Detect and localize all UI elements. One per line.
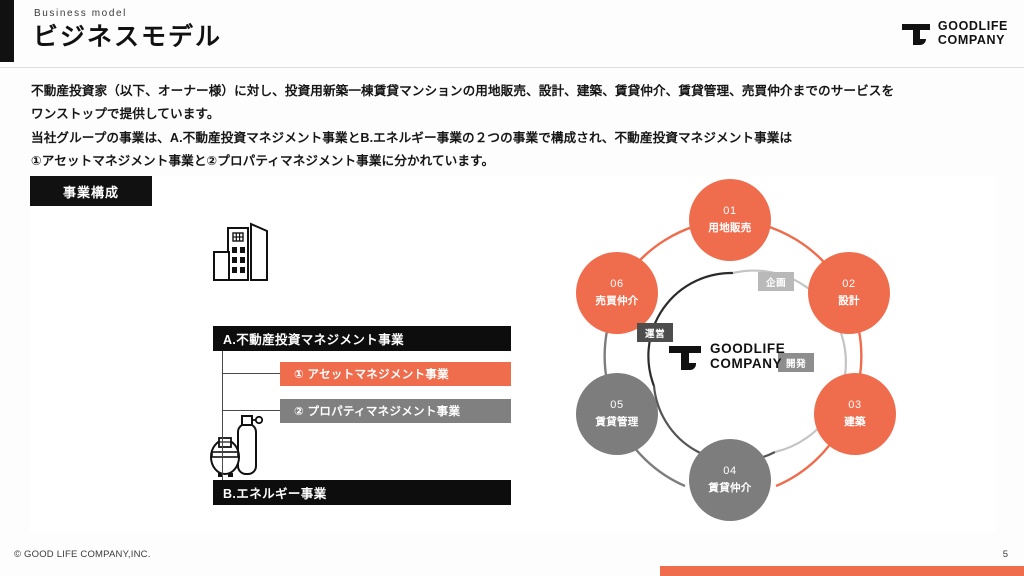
wheel-center-logo-line2: COMPANY bbox=[710, 356, 785, 371]
wheel-node-04-number: 04 bbox=[723, 464, 736, 479]
business-a-box[interactable]: A.不動産投資マネジメント事業 bbox=[213, 326, 511, 351]
panel-title-tag: 事業構成 bbox=[30, 176, 152, 206]
page-title: ビジネスモデル bbox=[33, 24, 222, 52]
wheel-node-06-number: 06 bbox=[610, 277, 623, 292]
wheel-tag-kikaku[interactable]: 企画 bbox=[758, 272, 794, 291]
wheel-node-05-label: 賃貸管理 bbox=[595, 415, 638, 429]
wheel-node-01[interactable]: 01 用地販売 bbox=[689, 179, 771, 261]
brand-logo-line2: COMPANY bbox=[938, 33, 1008, 47]
header-accent-bar bbox=[0, 0, 14, 62]
header-eyebrow: Business model bbox=[34, 8, 127, 19]
business-a1-box[interactable]: ① アセットマネジメント事業 bbox=[280, 362, 511, 386]
wheel-node-02-label: 設計 bbox=[838, 294, 860, 308]
business-structure-panel: 事業構成 bbox=[30, 176, 996, 532]
tree-connector-branch-1 bbox=[222, 373, 280, 374]
wheel-node-02[interactable]: 02 設計 bbox=[808, 252, 890, 334]
gas-cylinder-icon bbox=[210, 412, 270, 483]
wheel-node-03-label: 建築 bbox=[844, 415, 866, 429]
header-divider bbox=[0, 67, 1024, 68]
slide-root: Business model ビジネスモデル GOODLIFE COMPANY … bbox=[0, 0, 1024, 576]
brand-logo-line1: GOODLIFE bbox=[938, 19, 1008, 33]
wheel-node-02-number: 02 bbox=[842, 277, 855, 292]
intro-line-4: ①アセットマネジメント事業と②プロパティマネジメント事業に分かれています。 bbox=[31, 150, 996, 173]
wheel-node-04-label: 賃貸仲介 bbox=[708, 481, 751, 495]
brand-logo-text: GOODLIFE COMPANY bbox=[938, 19, 1008, 47]
wheel-node-04[interactable]: 04 賃貸仲介 bbox=[689, 439, 771, 521]
value-chain-wheel: 01 用地販売 02 設計 03 建築 04 賃貸仲介 05 賃貸管理 06 bbox=[530, 186, 970, 526]
tree-connector-branch-2 bbox=[222, 410, 280, 411]
tree-connector-vertical bbox=[222, 351, 223, 481]
wheel-center-logo-text: GOODLIFE COMPANY bbox=[710, 341, 785, 371]
wheel-center-logo: GOODLIFE COMPANY bbox=[668, 324, 833, 388]
intro-line-1: 不動産投資家（以下、オーナー様）に対し、投資用新築一棟賃貸マンションの用地販売、… bbox=[31, 80, 996, 103]
wheel-node-05[interactable]: 05 賃貸管理 bbox=[576, 373, 658, 455]
wheel-node-01-number: 01 bbox=[723, 204, 736, 219]
footer-accent-bar bbox=[660, 566, 1024, 576]
wheel-node-06-label: 売買仲介 bbox=[595, 294, 638, 308]
intro-line-2: ワンストップで提供しています。 bbox=[31, 103, 996, 126]
intro-line-3: 当社グループの事業は、A.不動産投資マネジメント事業とB.エネルギー事業の２つの… bbox=[31, 127, 996, 150]
intro-paragraph: 不動産投資家（以下、オーナー様）に対し、投資用新築一棟賃貸マンションの用地販売、… bbox=[31, 80, 996, 173]
footer-copyright: © GOOD LIFE COMPANY,INC. bbox=[14, 549, 151, 560]
wheel-node-01-label: 用地販売 bbox=[708, 221, 751, 235]
wheel-center-logo-line1: GOODLIFE bbox=[710, 341, 785, 356]
business-tree: A.不動産投資マネジメント事業 ① アセットマネジメント事業 ② プロパティマネ… bbox=[170, 222, 530, 522]
wheel-node-05-number: 05 bbox=[610, 398, 623, 413]
brand-logo: GOODLIFE COMPANY bbox=[901, 18, 1008, 48]
wheel-node-06[interactable]: 06 売買仲介 bbox=[576, 252, 658, 334]
office-building-icon bbox=[210, 222, 278, 289]
footer-page-number: 5 bbox=[1003, 549, 1008, 560]
wheel-node-03-number: 03 bbox=[848, 398, 861, 413]
business-a2-box[interactable]: ② プロパティマネジメント事業 bbox=[280, 399, 511, 423]
goodlife-mark-icon bbox=[901, 18, 931, 48]
business-b-box[interactable]: B.エネルギー事業 bbox=[213, 480, 511, 505]
goodlife-mark-icon bbox=[668, 339, 702, 373]
